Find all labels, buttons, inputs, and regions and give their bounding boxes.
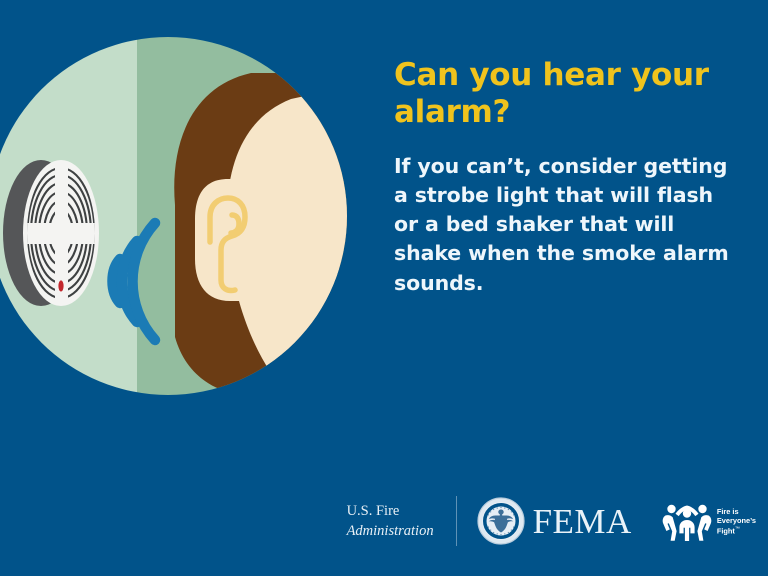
listener-head — [174, 73, 347, 395]
footer-divider — [456, 496, 457, 546]
fema-wordmark: FEMA — [533, 504, 632, 539]
alarm-led-indicator — [58, 280, 63, 291]
fire-is-everyones-fight-text: Fire is Everyone’s Fight™ — [717, 507, 756, 536]
fema-lockup-group: FEMA — [477, 497, 632, 545]
jaw-shape — [241, 269, 347, 395]
feif-line-1: Fire is — [717, 507, 756, 516]
fire-is-everyones-fight-lockup: Fire is Everyone’s Fight™ — [662, 500, 756, 542]
usfa-lockup: U.S. Fire Administration — [347, 501, 434, 541]
dhs-seal-icon — [477, 497, 525, 545]
footer-logo-bar: U.S. Fire Administration — [0, 488, 768, 554]
feif-trademark: ™ — [735, 526, 740, 532]
usfa-lockup-group: U.S. Fire Administration — [347, 501, 434, 541]
feif-line-3-wrap: Fight™ — [717, 526, 756, 536]
poster-canvas: Can you hear your alarm? If you can’t, c… — [0, 0, 768, 576]
fire-is-everyones-fight-icon — [662, 500, 712, 542]
feif-line-3: Fight — [717, 526, 735, 535]
usfa-line-1: U.S. Fire — [347, 501, 434, 521]
feif-line-2: Everyone’s — [717, 516, 756, 525]
text-column: Can you hear your alarm? If you can’t, c… — [394, 57, 742, 298]
usfa-line-2: Administration — [347, 521, 434, 541]
body-copy: If you can’t, consider getting a strobe … — [394, 152, 742, 298]
headline: Can you hear your alarm? — [394, 57, 742, 130]
illustration-circle — [0, 37, 347, 395]
illustration-smoke-alarm-and-listener — [0, 37, 347, 395]
